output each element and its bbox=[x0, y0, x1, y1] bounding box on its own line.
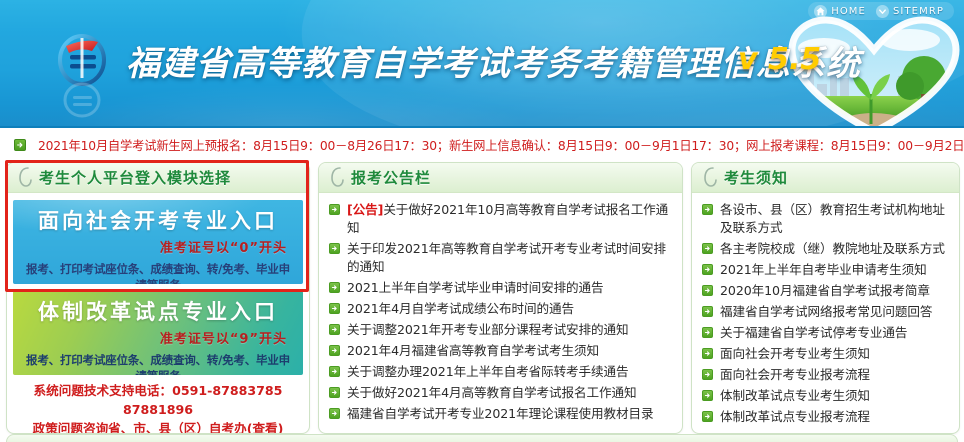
list-item[interactable]: [公告]关于做好2021年10月高等教育自学考试报名工作通知 bbox=[329, 201, 674, 237]
green-arrow-icon bbox=[702, 348, 713, 359]
support-phone-line: 系统问题技术支持电话：0591-87883785 87881896 bbox=[7, 381, 309, 419]
list-item[interactable]: 体制改革试点专业报考流程 bbox=[702, 408, 951, 426]
nav-home-label: HOME bbox=[831, 6, 866, 17]
nav-sitemap-label: SITEMRP bbox=[893, 6, 944, 17]
green-arrow-icon bbox=[329, 324, 340, 335]
entry-reform-pilot[interactable]: 体制改革试点专业入口 准考证号以“9”开头 报考、打印考试座位条、成绩查询、转/… bbox=[13, 291, 303, 375]
green-arrow-icon bbox=[702, 243, 713, 254]
top-nav: HOME SITEMRP bbox=[808, 2, 954, 20]
list-item[interactable]: 关于调整办理2021年上半年自考省际转考手续通告 bbox=[329, 363, 674, 381]
list-item-label[interactable]: [公告]关于做好2021年10月高等教育自学考试报名工作通知 bbox=[347, 201, 674, 237]
clip-icon bbox=[15, 165, 35, 191]
green-arrow-icon bbox=[702, 285, 713, 296]
list-item[interactable]: 各设市、县（区）教育招生考试机构地址及联系方式 bbox=[702, 201, 951, 237]
clip-icon bbox=[327, 165, 347, 191]
list-item-label[interactable]: 2021上半年自学考试毕业申请时间安排的通告 bbox=[347, 279, 604, 297]
list-item-label[interactable]: 关于印发2021年高等教育自学考试开考专业考试时间安排的通知 bbox=[347, 240, 674, 276]
green-arrow-icon bbox=[702, 264, 713, 275]
entry-reform-pilot-desc: 报考、打印考试座位条、成绩查询、转/免考、毕业申请等服务 bbox=[23, 352, 293, 375]
green-arrow-icon bbox=[329, 408, 340, 419]
login-module-panel: 考生个人平台登入模块选择 面向社会开考专业入口 准考证号以“0”开头 报考、打印… bbox=[6, 162, 310, 434]
announcements-list: [公告]关于做好2021年10月高等教育自学考试报名工作通知 关于印发2021年… bbox=[319, 193, 682, 423]
green-arrow-icon bbox=[329, 387, 340, 398]
list-item[interactable]: 各主考院校成（继）教院地址及联系方式 bbox=[702, 240, 951, 258]
list-item[interactable]: 2021上半年自学考试毕业申请时间安排的通告 bbox=[329, 279, 674, 297]
list-item[interactable]: 面向社会开考专业考生须知 bbox=[702, 345, 951, 363]
list-item-label[interactable]: 关于福建省自学考试停考专业通告 bbox=[720, 324, 907, 342]
entry-social-exam-title: 面向社会开考专业入口 bbox=[23, 206, 293, 236]
announcement-text: 关于做好2021年10月高等教育自学考试报名工作通知 bbox=[347, 202, 668, 235]
entry-social-exam-subtitle: 准考证号以“0”开头 bbox=[23, 237, 293, 256]
list-item[interactable]: 关于印发2021年高等教育自学考试开考专业考试时间安排的通知 bbox=[329, 240, 674, 276]
version-label: v 5.5 bbox=[738, 42, 821, 77]
green-arrow-icon bbox=[329, 282, 340, 293]
bottom-panel-edge bbox=[6, 434, 958, 442]
green-arrow-icon bbox=[702, 204, 713, 215]
right-column: 考生须知 各设市、县（区）教育招生考试机构地址及联系方式 各主考院校成（继）教院… bbox=[691, 162, 960, 442]
site-logo bbox=[46, 26, 118, 122]
list-item-label[interactable]: 2021年4月福建省高等教育自学考试考生须知 bbox=[347, 342, 599, 360]
green-arrow-icon bbox=[329, 345, 340, 356]
list-item-label[interactable]: 福建省自学考试网络报考常见问题回答 bbox=[720, 303, 932, 321]
login-module-panel-title: 考生个人平台登入模块选择 bbox=[39, 167, 231, 188]
list-item-label[interactable]: 关于调整2021年开考专业部分课程考试安排的通知 bbox=[347, 321, 629, 339]
entry-reform-pilot-title: 体制改革试点专业入口 bbox=[23, 297, 293, 327]
list-item[interactable]: 体制改革试点专业考生须知 bbox=[702, 387, 951, 405]
entry-social-exam[interactable]: 面向社会开考专业入口 准考证号以“0”开头 报考、打印考试座位条、成绩查询、转/… bbox=[13, 200, 303, 284]
site-header: HOME SITEMRP bbox=[0, 0, 964, 128]
green-arrow-icon bbox=[329, 243, 340, 254]
list-item-label[interactable]: 体制改革试点专业考生须知 bbox=[720, 387, 870, 405]
candidate-notes-panel-title: 考生须知 bbox=[724, 167, 788, 188]
announcement-tag: [公告] bbox=[347, 202, 383, 217]
nav-sitemap-link[interactable]: SITEMRP bbox=[876, 5, 944, 18]
green-arrow-icon bbox=[702, 327, 713, 338]
list-item-label[interactable]: 福建省自学考试开考专业2021年理论课程使用教材目录 bbox=[347, 405, 654, 423]
support-policy-line[interactable]: 政策问题咨询省、市、县（区）自考办(查看) bbox=[7, 419, 309, 434]
list-item-label[interactable]: 体制改革试点专业报考流程 bbox=[720, 408, 870, 426]
list-item-label[interactable]: 面向社会开考专业报考流程 bbox=[720, 366, 870, 384]
support-info: 系统问题技术支持电话：0591-87883785 87881896 政策问题咨询… bbox=[7, 381, 309, 434]
green-arrow-icon bbox=[329, 366, 340, 377]
list-item[interactable]: 2020年10月福建省自学考试报考简章 bbox=[702, 282, 951, 300]
announcements-panel-title: 报考公告栏 bbox=[351, 167, 431, 188]
list-item[interactable]: 福建省自学考试开考专业2021年理论课程使用教材目录 bbox=[329, 405, 674, 423]
list-item-label[interactable]: 2020年10月福建省自学考试报考简章 bbox=[720, 282, 930, 300]
list-item[interactable]: 关于福建省自学考试停考专业通告 bbox=[702, 324, 951, 342]
list-item-label[interactable]: 各设市、县（区）教育招生考试机构地址及联系方式 bbox=[720, 201, 951, 237]
green-arrow-icon bbox=[329, 204, 340, 215]
list-item[interactable]: 2021年上半年自考毕业申请考生须知 bbox=[702, 261, 951, 279]
list-item[interactable]: 福建省自学考试网络报考常见问题回答 bbox=[702, 303, 951, 321]
green-arrow-icon bbox=[702, 306, 713, 317]
list-item[interactable]: 关于做好2021年4月高等教育自学考试报名工作通知 bbox=[329, 384, 674, 402]
list-item[interactable]: 关于调整2021年开考专业部分课程考试安排的通知 bbox=[329, 321, 674, 339]
announcements-panel: 报考公告栏 [公告]关于做好2021年10月高等教育自学考试报名工作通知 关于印… bbox=[318, 162, 683, 434]
list-item[interactable]: 面向社会开考专业报考流程 bbox=[702, 366, 951, 384]
entry-social-exam-desc: 报考、打印考试座位条、成绩查询、转/免考、毕业申请等服务 bbox=[23, 261, 293, 284]
nav-home-link[interactable]: HOME bbox=[814, 5, 866, 18]
main-columns: 考生个人平台登入模块选择 面向社会开考专业入口 准考证号以“0”开头 报考、打印… bbox=[0, 162, 964, 442]
green-arrow-icon bbox=[14, 139, 26, 151]
clip-icon bbox=[700, 165, 720, 191]
home-icon bbox=[814, 5, 827, 18]
middle-column: 报考公告栏 [公告]关于做好2021年10月高等教育自学考试报名工作通知 关于印… bbox=[318, 162, 683, 442]
entry-reform-pilot-subtitle: 准考证号以“9”开头 bbox=[23, 328, 293, 347]
list-item-label[interactable]: 各主考院校成（继）教院地址及联系方式 bbox=[720, 240, 945, 258]
list-item[interactable]: 2021年4月自学考试成绩公布时间的通告 bbox=[329, 300, 674, 318]
green-arrow-icon bbox=[702, 390, 713, 401]
list-item-label[interactable]: 2021年上半年自考毕业申请考生须知 bbox=[720, 261, 927, 279]
announcements-panel-header: 报考公告栏 bbox=[319, 163, 682, 193]
login-module-panel-header: 考生个人平台登入模块选择 bbox=[7, 163, 309, 193]
candidate-notes-panel: 考生须知 各设市、县（区）教育招生考试机构地址及联系方式 各主考院校成（继）教院… bbox=[691, 162, 960, 434]
list-item-label[interactable]: 关于调整办理2021年上半年自考省际转考手续通告 bbox=[347, 363, 629, 381]
left-column: 考生个人平台登入模块选择 面向社会开考专业入口 准考证号以“0”开头 报考、打印… bbox=[6, 162, 310, 442]
candidate-notes-list: 各设市、县（区）教育招生考试机构地址及联系方式 各主考院校成（继）教院地址及联系… bbox=[692, 193, 959, 426]
list-item-label[interactable]: 2021年4月自学考试成绩公布时间的通告 bbox=[347, 300, 574, 318]
green-arrow-icon bbox=[329, 303, 340, 314]
candidate-notes-panel-header: 考生须知 bbox=[692, 163, 959, 193]
green-arrow-icon bbox=[702, 369, 713, 380]
list-item[interactable]: 2021年4月福建省高等教育自学考试考生须知 bbox=[329, 342, 674, 360]
green-arrow-icon bbox=[702, 411, 713, 422]
list-item-label[interactable]: 面向社会开考专业考生须知 bbox=[720, 345, 870, 363]
notice-bar: 2021年10月自学考试新生网上预报名：8月15日9：00－8月26日17：30… bbox=[0, 128, 964, 162]
list-item-label[interactable]: 关于做好2021年4月高等教育自学考试报名工作通知 bbox=[347, 384, 636, 402]
chevron-down-circle-icon bbox=[876, 5, 889, 18]
notice-text[interactable]: 2021年10月自学考试新生网上预报名：8月15日9：00－8月26日17：30… bbox=[38, 136, 964, 154]
